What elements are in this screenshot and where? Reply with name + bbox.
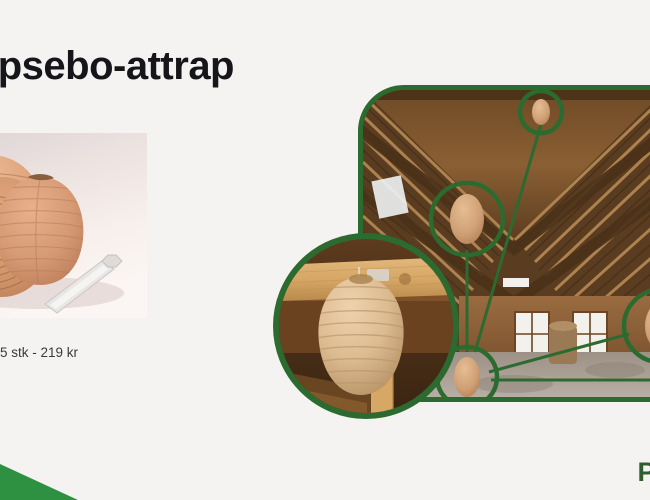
inset-photo-illustration	[279, 239, 453, 413]
product-photo	[0, 133, 147, 318]
slide-canvas: epsebo-attrap	[0, 0, 650, 500]
brand-logo-text: PI	[637, 457, 650, 488]
page-title: epsebo-attrap	[0, 44, 234, 88]
product-photo-illustration	[0, 133, 147, 318]
corner-triangle-icon	[0, 456, 78, 500]
product-caption: med 5 stk - 219 kr	[0, 345, 78, 360]
inset-photo-frame	[273, 233, 459, 419]
corner-accent-shape	[0, 456, 78, 500]
